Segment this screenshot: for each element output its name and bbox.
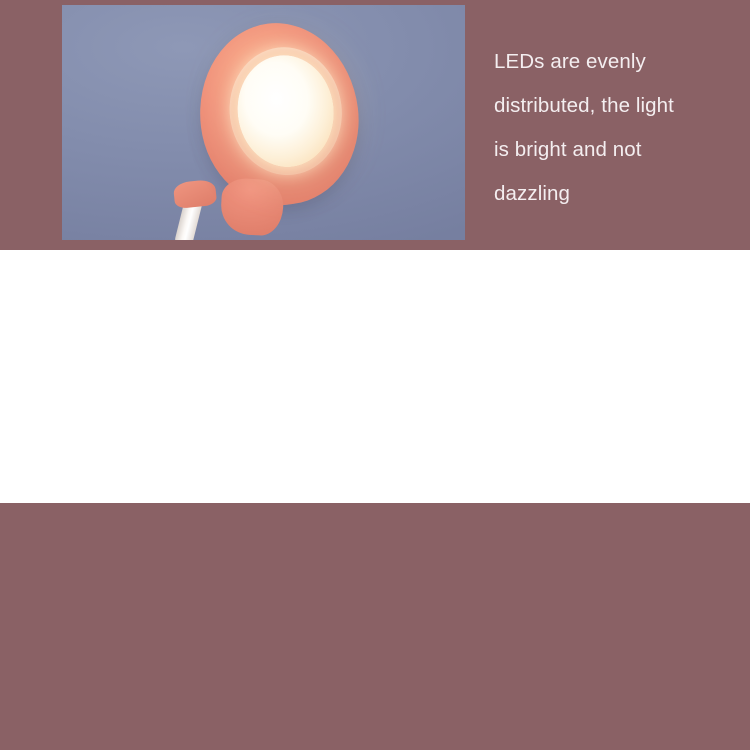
caption-leds: LEDs are evenly distributed, the light i… xyxy=(494,40,740,216)
feature-panel-hose: Vientiane hose, you can bend freely xyxy=(0,250,750,503)
caption-leds-line-1: LEDs are evenly xyxy=(494,40,740,84)
caption-leds-line-2: distributed, the light xyxy=(494,84,740,128)
infographic-page: LEDs are evenly distributed, the light i… xyxy=(0,0,750,750)
caption-leds-line-4: dazzling xyxy=(494,172,740,216)
lamp-head-lit-photo xyxy=(62,5,465,240)
feature-panel-base: Large area base, stable placement xyxy=(0,503,750,750)
caption-leds-line-3: is bright and not xyxy=(494,128,740,172)
feature-panel-leds: LEDs are evenly distributed, the light i… xyxy=(0,0,750,250)
